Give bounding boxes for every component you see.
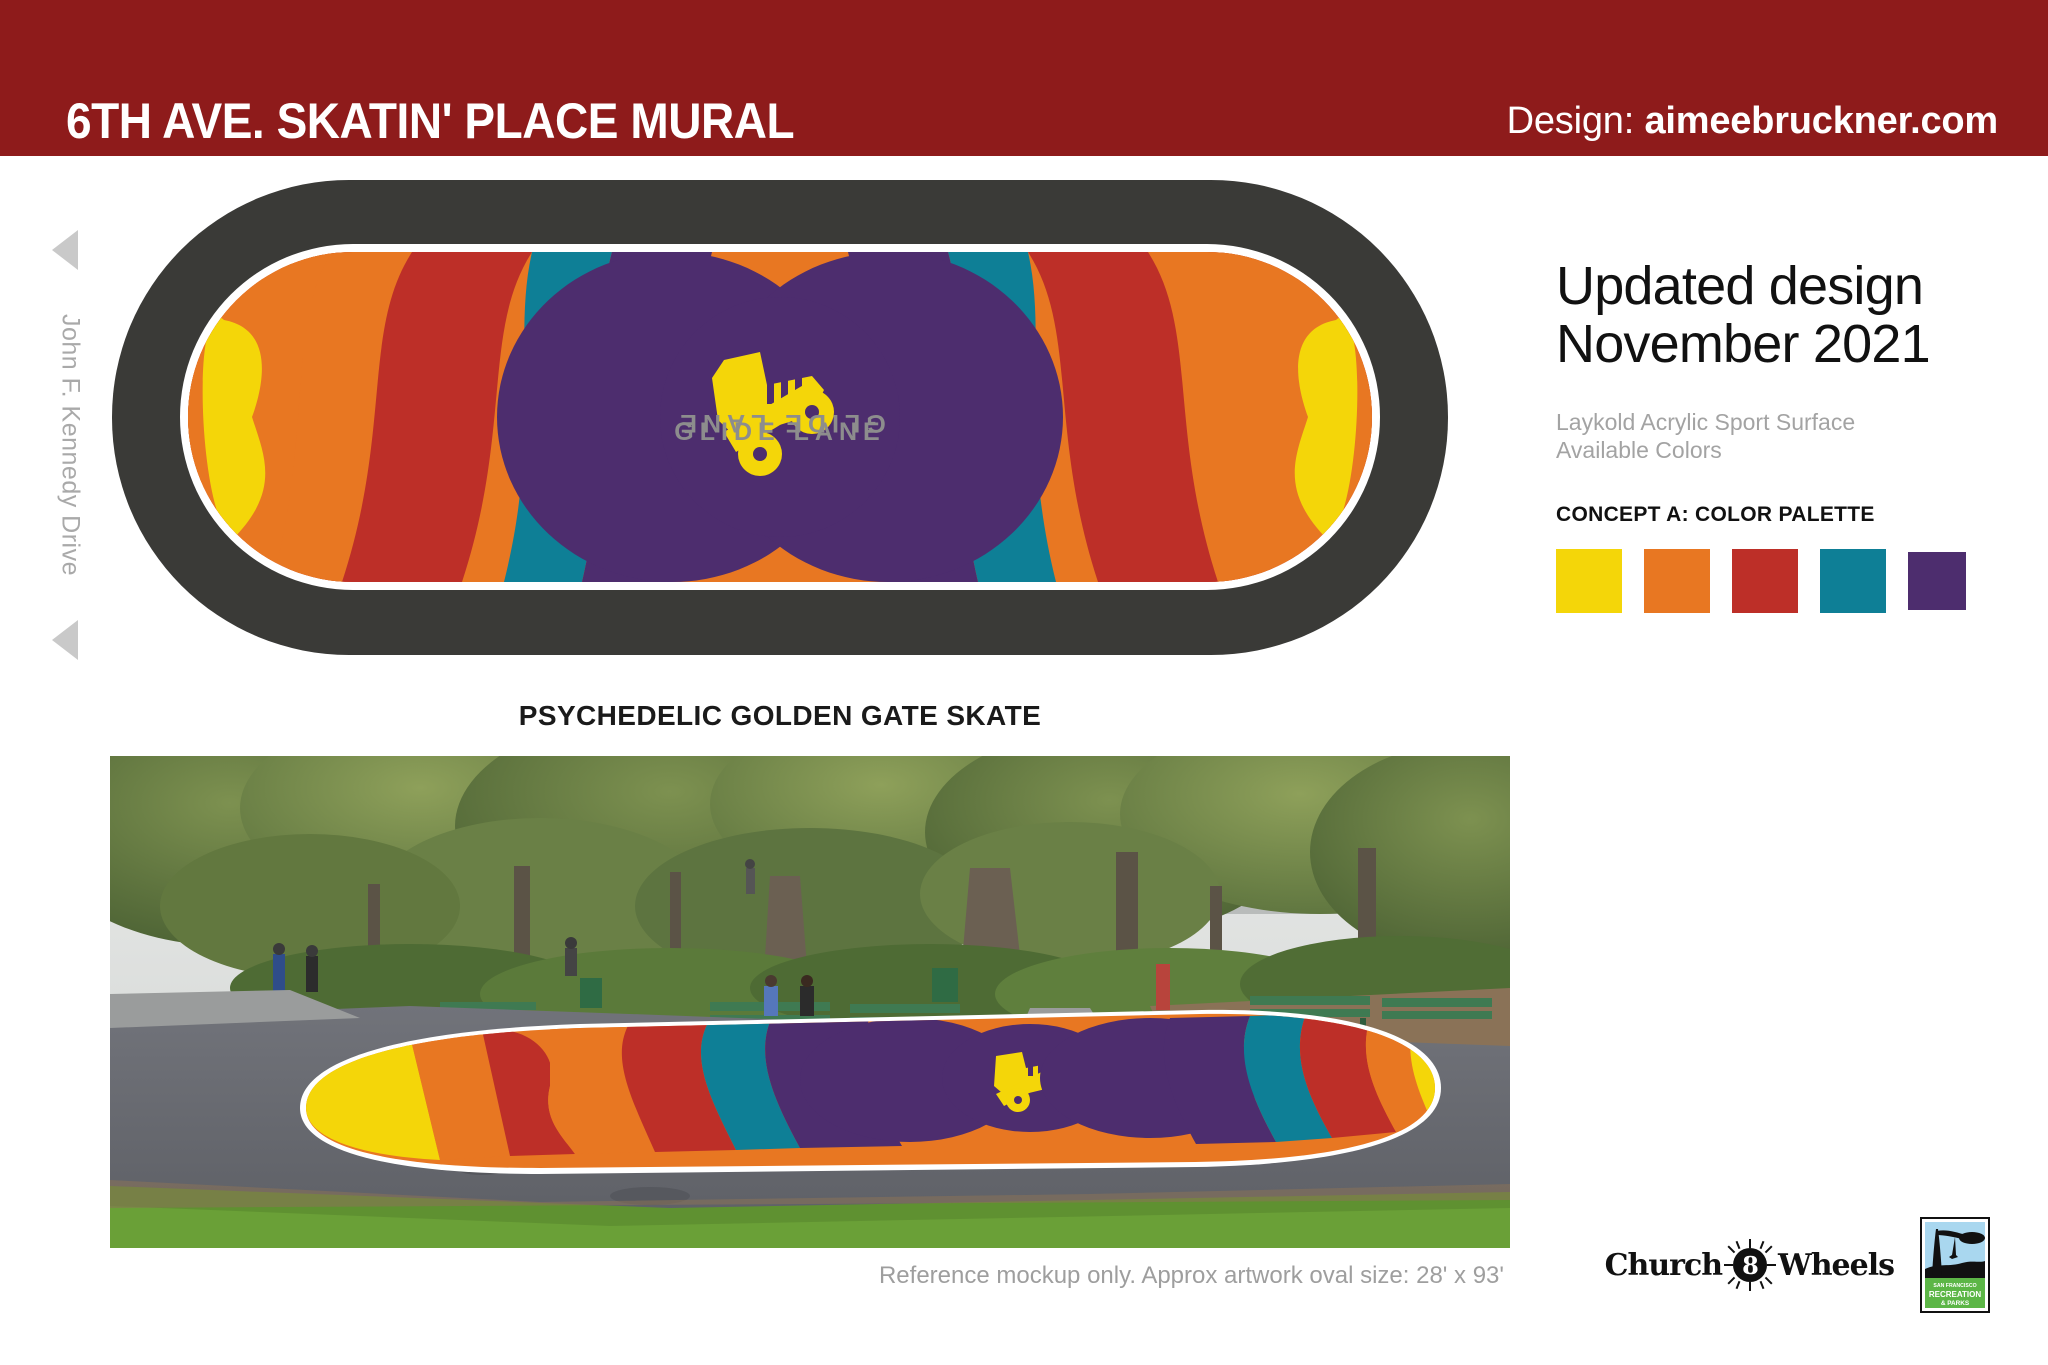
concept-palette-label: CONCEPT A: COLOR PALETTE: [1556, 503, 2026, 527]
mural-caption: PSYCHEDELIC GOLDEN GATE SKATE: [112, 700, 1448, 732]
church-logo-text-right: Wheels: [1778, 1248, 1894, 1283]
svg-text:SAN FRANCISCO: SAN FRANCISCO: [1933, 1283, 1976, 1289]
footer-logos: Church: [1605, 1217, 1990, 1313]
glide-lane-label-bottom: GLIDE LANE: [112, 418, 1448, 447]
photo-svg: [110, 756, 1510, 1248]
credit-label: Design:: [1507, 100, 1634, 142]
svg-text:8: 8: [1742, 1251, 1758, 1280]
svg-text:& PARKS: & PARKS: [1941, 1300, 1970, 1307]
page-title: 6TH AVE. SKATIN' PLACE MURAL: [66, 92, 794, 150]
svg-text:RECREATION: RECREATION: [1929, 1290, 1982, 1299]
sf-rec-and-parks-logo: SAN FRANCISCO RECREATION & PARKS: [1920, 1217, 1990, 1313]
photo-caption: Reference mockup only. Approx artwork ov…: [110, 1262, 1510, 1290]
heading-line-1: Updated design: [1556, 258, 2026, 316]
credit-website: aimeebruckner.com: [1644, 100, 1998, 142]
church-logo-text-left: Church: [1605, 1248, 1722, 1283]
street-name-label: John F. Kennedy Drive: [56, 314, 85, 576]
park-sign: [1156, 964, 1170, 1010]
trash-bin-2: [932, 968, 958, 1002]
color-palette-swatches: [1556, 549, 2026, 613]
triangle-left-icon-top: [52, 230, 78, 270]
surface-note: Laykold Acrylic Sport Surface Available …: [1556, 408, 2026, 466]
street-direction-indicator: John F. Kennedy Drive: [46, 230, 94, 660]
swatch-orange: [1644, 549, 1710, 613]
mural-design-diagram: GLIDE LANE GLIDE LANE: [112, 180, 1448, 655]
design-info-panel: Updated design November 2021 Laykold Acr…: [1556, 258, 2026, 613]
reference-mockup-photo: [110, 756, 1510, 1248]
church-of-8-wheels-logo: Church: [1605, 1239, 1894, 1291]
trash-bin: [580, 978, 602, 1008]
eight-burst-icon: 8: [1724, 1239, 1776, 1291]
swatch-teal: [1820, 549, 1886, 613]
swatch-purple: [1908, 552, 1966, 610]
heading-line-2: November 2021: [1556, 316, 2026, 374]
designer-credit: Design: aimeebruckner.com: [1507, 100, 1998, 143]
updated-design-heading: Updated design November 2021: [1556, 258, 2026, 374]
swatch-red: [1732, 549, 1798, 613]
surface-note-line-2: Available Colors: [1556, 436, 2026, 465]
surface-note-line-1: Laykold Acrylic Sport Surface: [1556, 408, 2026, 437]
swatch-yellow: [1556, 549, 1622, 613]
triangle-left-icon-bottom: [52, 620, 78, 660]
